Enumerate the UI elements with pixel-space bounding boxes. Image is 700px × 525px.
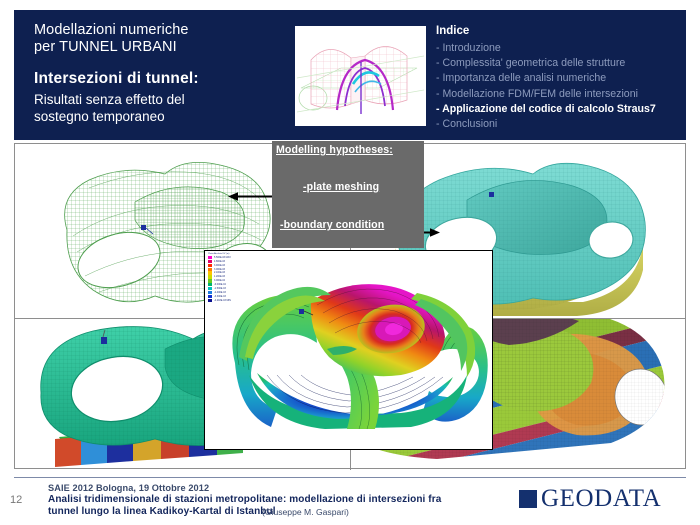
legend-label: -4.218E-03 MIN <box>214 299 231 302</box>
legend-label: -1.500E-03 <box>214 287 226 290</box>
index-item-conclusioni[interactable]: - Conclusioni <box>436 117 686 132</box>
legend-label: -6.000E-04 <box>214 283 226 286</box>
legend-swatch <box>208 279 212 282</box>
footer-divider <box>14 477 686 478</box>
legend-label: 3.000E-04 <box>214 279 225 282</box>
index-item-introduzione[interactable]: - Introduzione <box>436 41 686 56</box>
index-item-importanza-analisi[interactable]: - Importanza delle analisi numeriche <box>436 71 686 86</box>
legend-swatch <box>208 275 212 278</box>
footer-title-line-1: Analisi tridimensionale di stazioni metr… <box>48 494 441 505</box>
arrow-to-top-left-panel <box>228 192 278 201</box>
legend-swatch <box>208 271 212 274</box>
footer-title-line-2: tunnel lungo la linea Kadikoy-Kartal di … <box>48 506 276 517</box>
legend-label: -2.400E-03 <box>214 291 226 294</box>
modelling-hypotheses-box: Modelling hypotheses: -plate meshing -bo… <box>272 141 424 248</box>
page-number: 12 <box>10 494 22 506</box>
geodata-logo-square-icon <box>519 490 537 508</box>
legend-label: -3.300E-03 <box>214 295 226 298</box>
legend-label: 5.506E-03 MAX <box>214 256 231 259</box>
slide-canvas: Modellazioni numeriche per TUNNEL URBANI… <box>0 0 700 525</box>
geodata-logo-text: GEODATA <box>541 486 661 511</box>
legend-swatch <box>208 260 212 263</box>
index-block: Indice - Introduzione - Complessita' geo… <box>436 24 686 132</box>
geodata-logo: GEODATA <box>519 486 661 511</box>
title-line-1: Modellazioni numeriche <box>34 22 284 39</box>
legend-label: 3.000E-03 <box>214 268 225 271</box>
hypothesis-plate-meshing: -plate meshing <box>303 181 379 193</box>
modelling-hypotheses-title: Modelling hypotheses: <box>276 144 393 156</box>
footer-author: (Giuseppe M. Gaspari) <box>262 507 349 517</box>
legend-swatch <box>208 299 212 302</box>
index-item-applicazione-straus7[interactable]: - Applicazione del codice di calcolo Str… <box>436 102 686 117</box>
legend-swatch <box>208 287 212 290</box>
legend-row: -4.218E-03 MIN <box>208 298 264 302</box>
contour-displacement-plot-inset: Plate Absolute DZ (m) 5.506E-03 MAX 4.80… <box>204 250 493 450</box>
title-line-2: per TUNNEL URBANI <box>34 39 284 56</box>
legend-swatch <box>208 256 212 259</box>
legend-label: 1.200E-03 <box>214 275 225 278</box>
hypothesis-boundary-condition: -boundary condition <box>280 219 384 231</box>
slide-header-band: Modellazioni numeriche per TUNNEL URBANI… <box>14 10 686 140</box>
legend-swatch <box>208 264 212 267</box>
subtitle-line-2: sostegno temporaneo <box>34 108 284 125</box>
legend-swatch <box>208 295 212 298</box>
legend-swatch <box>208 268 212 271</box>
subtitle-strong: Intersezioni di tunnel: <box>34 69 284 88</box>
tunnel-intersection-wireframe-thumbnail <box>295 26 426 126</box>
index-item-modellazione-fdm-fem[interactable]: - Modellazione FDM/FEM delle intersezion… <box>436 87 686 102</box>
legend-label: 4.800E-03 <box>214 260 225 263</box>
legend-label: 2.100E-03 <box>214 271 225 274</box>
legend-label: 3.900E-03 <box>214 264 225 267</box>
index-title: Indice <box>436 24 686 39</box>
contour-legend: Plate Absolute DZ (m) 5.506E-03 MAX 4.80… <box>208 253 264 315</box>
index-item-complessita-geometrica[interactable]: - Complessita' geometrica delle struttur… <box>436 56 686 71</box>
footer-event: SAIE 2012 Bologna, 19 Ottobre 2012 <box>48 483 209 493</box>
subtitle-line-1: Risultati senza effetto del <box>34 91 284 108</box>
title-block: Modellazioni numeriche per TUNNEL URBANI… <box>34 22 284 125</box>
legend-swatch <box>208 291 212 294</box>
legend-swatch <box>208 283 212 286</box>
